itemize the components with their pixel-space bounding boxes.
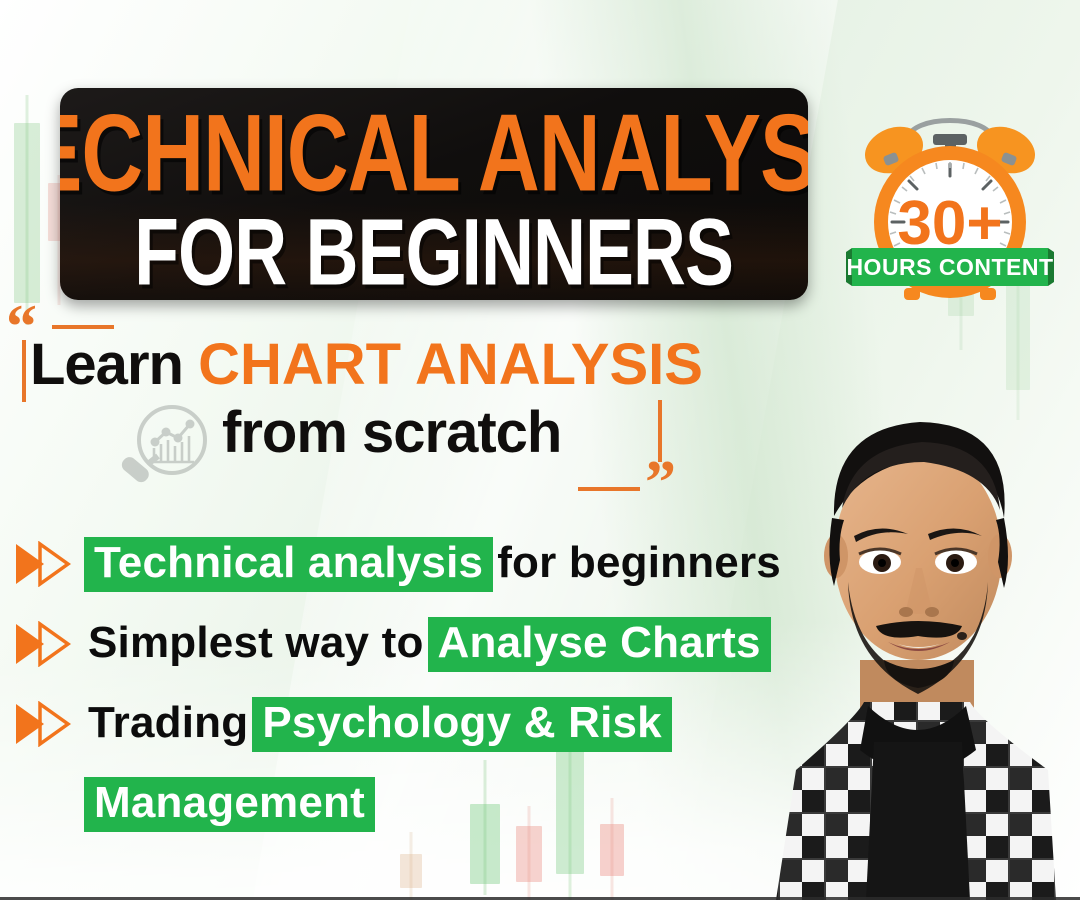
list-item-text: Management — [84, 777, 375, 832]
candle-green — [14, 95, 40, 325]
headline-line-2: from scratch — [222, 404, 561, 462]
double-arrow-icon — [14, 541, 76, 587]
badge-ribbon-label: HOURS CONTENT — [846, 254, 1053, 280]
highlight-segment: Management — [84, 777, 375, 832]
plain-segment: Simplest way to — [84, 617, 428, 672]
title-line-1: TECHNICAL ANALYSIS — [60, 104, 808, 202]
badge-number: 30+ — [897, 189, 1002, 258]
highlight-segment: Analyse Charts — [428, 617, 771, 672]
list-item-text: TradingPsychology & Risk — [84, 697, 672, 752]
feature-list: Technical analysisfor beginners Simplest… — [0, 524, 820, 844]
title-line-2: FOR BEGINNERS — [135, 211, 734, 297]
hours-content-badge: 30+ HOURS CONTENT — [846, 92, 1054, 304]
list-item: Technical analysisfor beginners — [0, 524, 820, 604]
list-item-text: Technical analysisfor beginners — [84, 537, 785, 592]
highlight-segment: Psychology & Risk — [252, 697, 672, 752]
headline-line-1: Learn CHART ANALYSIS — [30, 336, 703, 394]
poster-canvas: TECHNICAL ANALYSIS FOR BEGINNERS — [0, 0, 1080, 900]
highlight-segment: Technical analysis — [84, 537, 493, 592]
quote-open-bar — [22, 340, 26, 402]
quote-close-dash — [578, 487, 640, 491]
magnifier-chart-icon — [110, 400, 218, 496]
quote-open-dash — [52, 325, 114, 329]
headline-learn-text: Learn — [30, 332, 198, 397]
instructor-portrait — [756, 330, 1080, 900]
quote-close-mark: ” — [645, 462, 676, 505]
plain-segment: Trading — [84, 697, 252, 752]
double-arrow-icon — [14, 621, 76, 667]
double-arrow-icon — [14, 701, 76, 747]
list-item-text: Simplest way toAnalyse Charts — [84, 617, 771, 672]
plain-segment: for beginners — [493, 537, 785, 592]
list-item: TradingPsychology & Risk — [0, 684, 820, 764]
headline-chart-analysis-text: CHART ANALYSIS — [198, 332, 703, 397]
list-item: Simplest way toAnalyse Charts — [0, 604, 820, 684]
title-plate: TECHNICAL ANALYSIS FOR BEGINNERS — [60, 88, 808, 300]
list-item-continuation: Management — [0, 764, 820, 844]
